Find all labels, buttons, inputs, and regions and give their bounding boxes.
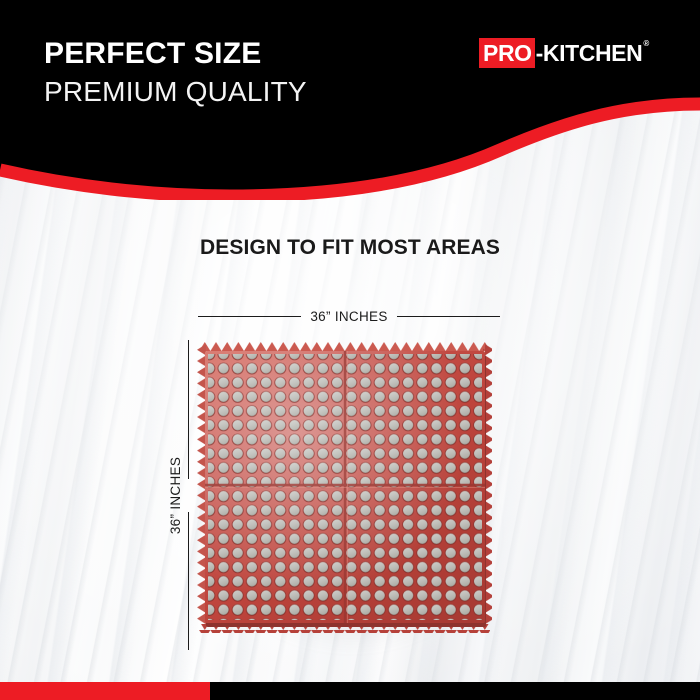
product-marketing-banner: PERFECT SIZE PREMIUM QUALITY PRO -KITCHE…	[0, 0, 700, 700]
dimension-height-label: 36” INCHES	[169, 456, 184, 533]
anti-fatigue-mat-graphic	[188, 333, 512, 657]
dimension-line-right	[397, 316, 500, 317]
footer-accent-red	[0, 682, 210, 700]
product-image	[188, 333, 512, 657]
brand-logo: PRO -KITCHEN ®	[479, 38, 649, 68]
footer-bar	[0, 682, 700, 700]
header-headline-group: PERFECT SIZE PREMIUM QUALITY	[44, 38, 444, 107]
headline-secondary: PREMIUM QUALITY	[44, 76, 444, 107]
header-banner: PERFECT SIZE PREMIUM QUALITY PRO -KITCHE…	[0, 0, 700, 200]
dimension-line-left	[198, 316, 301, 317]
mat-body	[205, 351, 486, 627]
dimension-width: 36” INCHES	[198, 308, 500, 324]
registered-trademark-icon: ®	[642, 38, 649, 50]
logo-pro-mark: PRO	[479, 38, 535, 68]
dimension-width-label: 36” INCHES	[310, 309, 387, 324]
logo-kitchen-text: -KITCHEN	[535, 38, 643, 68]
headline-primary: PERFECT SIZE	[44, 38, 444, 70]
section-heading: DESIGN TO FIT MOST AREAS	[0, 236, 700, 260]
footer-bar-black	[210, 682, 700, 700]
